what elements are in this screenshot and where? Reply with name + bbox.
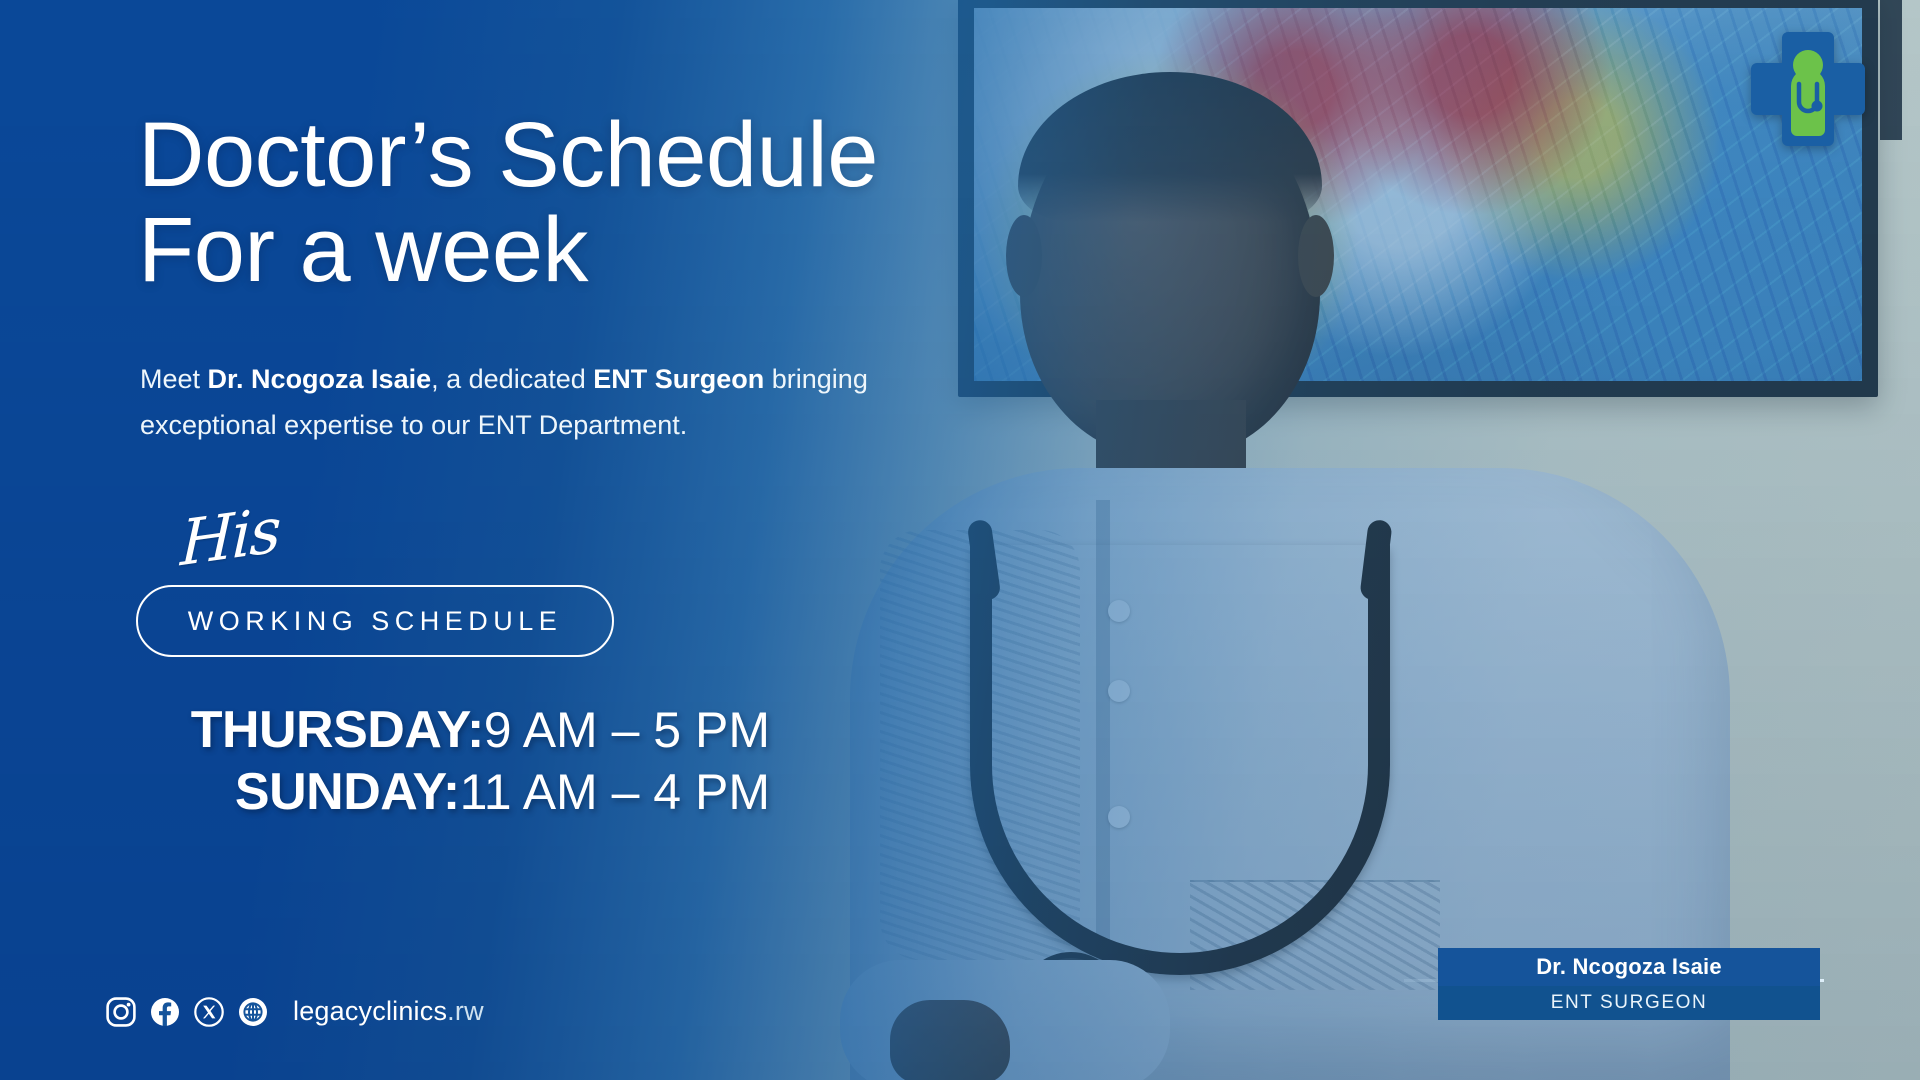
facebook-icon[interactable] bbox=[150, 997, 180, 1027]
website-tld: .rw bbox=[447, 996, 484, 1026]
name-plate-name: Dr. Ncogoza Isaie bbox=[1438, 948, 1820, 986]
schedule-row: SUNDAY:11 AM – 4 PM bbox=[0, 762, 770, 822]
website-url[interactable]: legacyclinics.rw bbox=[293, 996, 484, 1027]
x-twitter-icon[interactable] bbox=[194, 997, 224, 1027]
intro-role: ENT Surgeon bbox=[593, 364, 764, 394]
script-his-word: His bbox=[179, 493, 280, 581]
working-schedule-label: WORKING SCHEDULE bbox=[188, 606, 563, 637]
page-title: Doctor’s Schedule For a week bbox=[138, 108, 878, 298]
name-plate: Dr. Ncogoza Isaie ENT SURGEON bbox=[1438, 948, 1820, 1020]
schedule-day: THURSDAY: bbox=[191, 701, 484, 759]
working-schedule-pill: WORKING SCHEDULE bbox=[136, 585, 614, 657]
headline-line-1: Doctor’s Schedule bbox=[138, 104, 878, 206]
intro-pre: Meet bbox=[140, 364, 208, 394]
schedule-hours: 9 AM – 5 PM bbox=[484, 702, 770, 758]
medical-cross-doctor-logo bbox=[1747, 28, 1869, 150]
schedule-list: THURSDAY:9 AM – 5 PM SUNDAY:11 AM – 4 PM bbox=[0, 700, 770, 824]
name-plate-title: ENT SURGEON bbox=[1438, 986, 1820, 1020]
schedule-row: THURSDAY:9 AM – 5 PM bbox=[0, 700, 770, 760]
website-name: legacyclinics bbox=[293, 996, 447, 1026]
poster-canvas: Doctor’s Schedule For a week Meet Dr. Nc… bbox=[0, 0, 1920, 1080]
footer-social-bar: legacyclinics.rw bbox=[106, 996, 484, 1027]
intro-doctor-name: Dr. Ncogoza Isaie bbox=[208, 364, 432, 394]
schedule-hours: 11 AM – 4 PM bbox=[460, 764, 770, 820]
instagram-icon[interactable] bbox=[106, 997, 136, 1027]
schedule-day: SUNDAY: bbox=[235, 763, 460, 821]
intro-mid: , a dedicated bbox=[431, 364, 593, 394]
poster-content: Doctor’s Schedule For a week Meet Dr. Nc… bbox=[0, 0, 1000, 1080]
website-globe-icon[interactable] bbox=[238, 997, 268, 1027]
intro-paragraph: Meet Dr. Ncogoza Isaie, a dedicated ENT … bbox=[140, 356, 950, 449]
headline-line-2: For a week bbox=[138, 203, 878, 298]
